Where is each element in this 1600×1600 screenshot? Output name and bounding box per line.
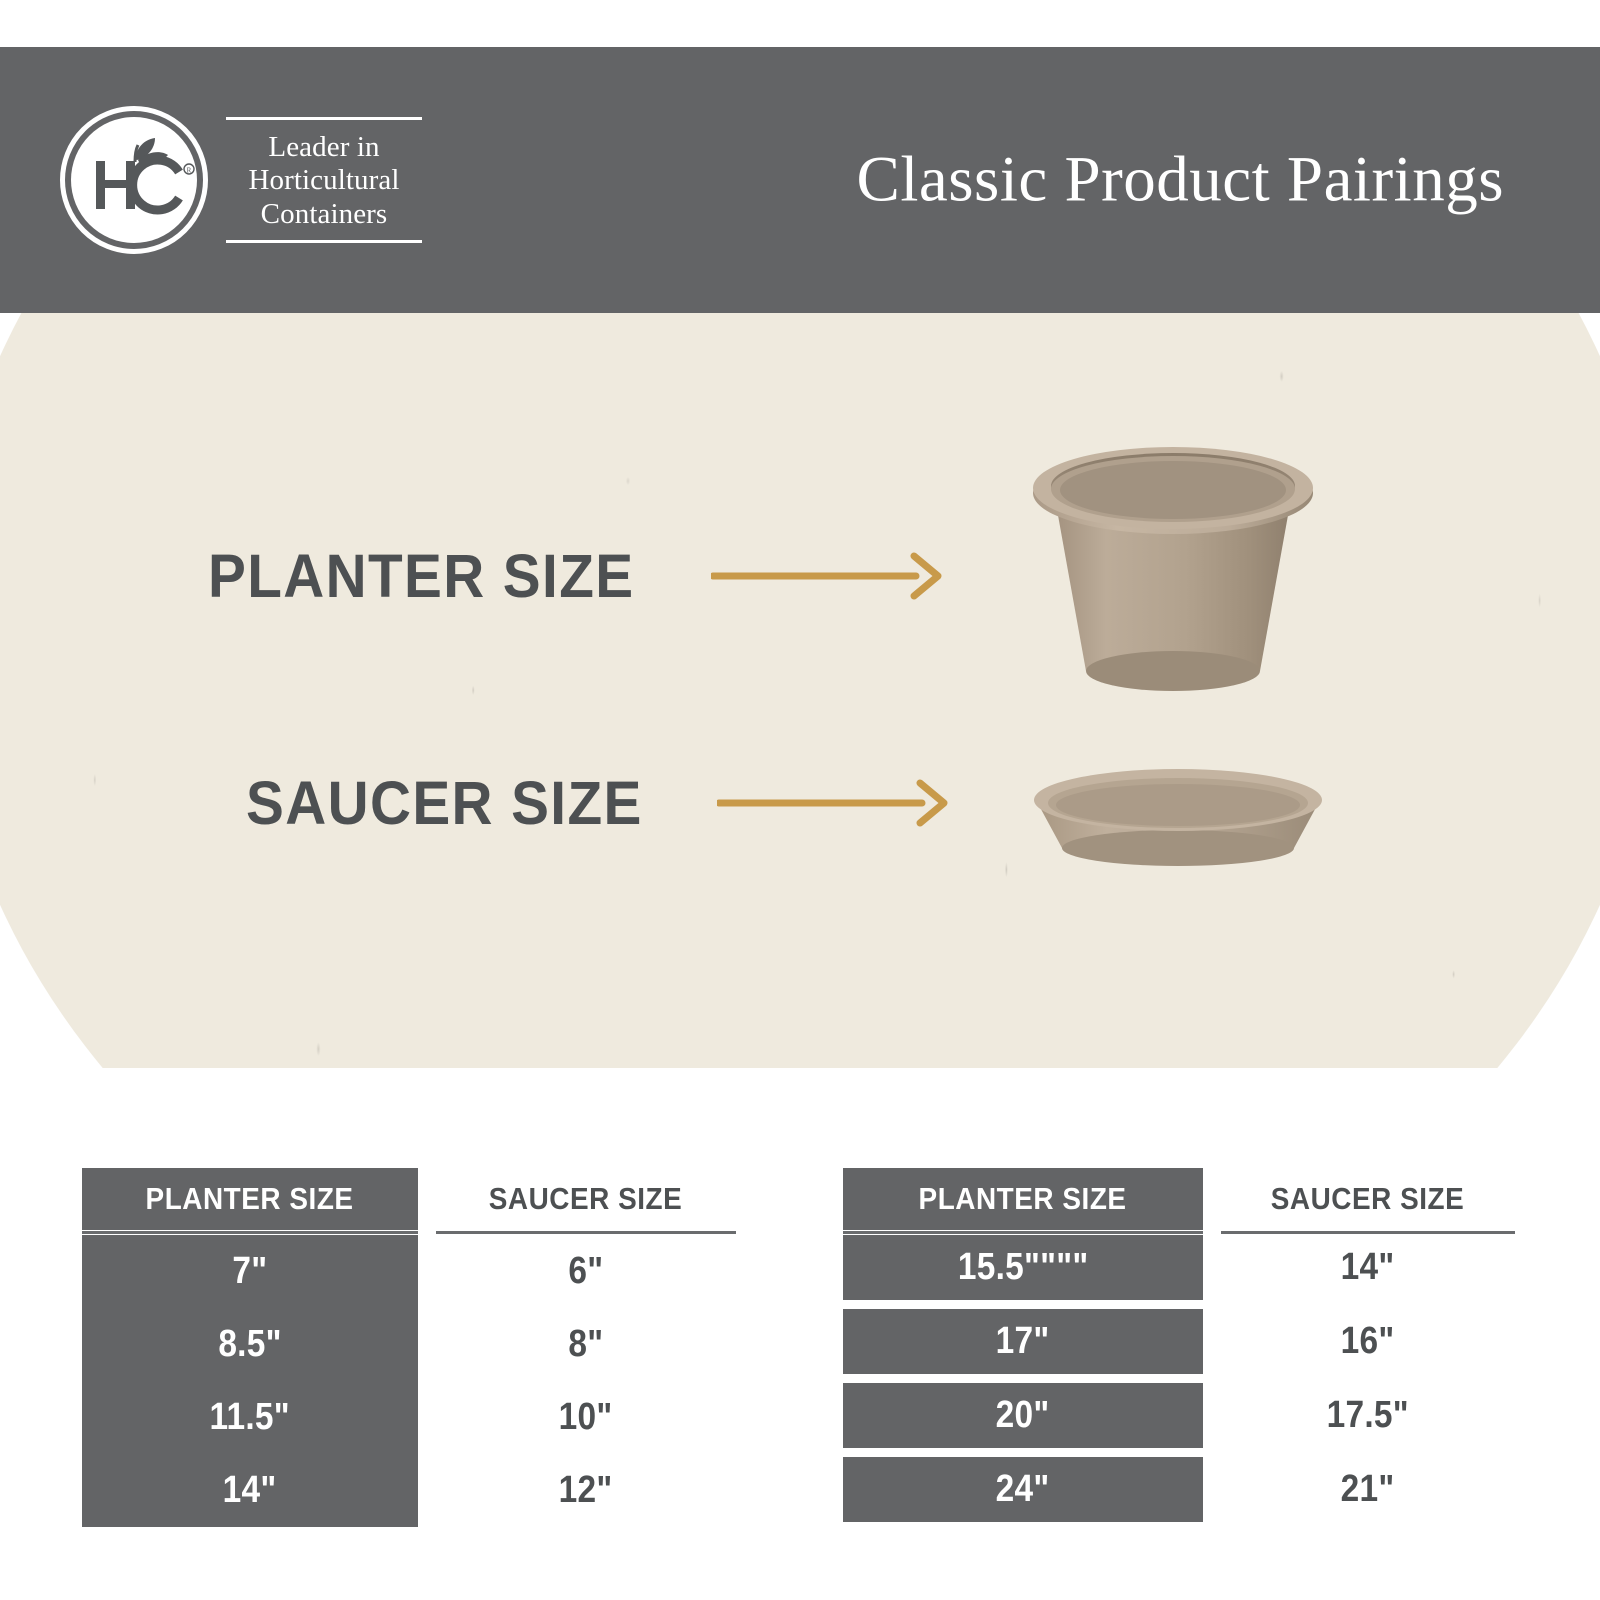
- header-gap: [1203, 1168, 1221, 1230]
- hc-monogram-icon: R: [71, 117, 197, 243]
- table-body: 15.5"""" 14" 17" 16" 20" 17.5" 24" 21": [843, 1235, 1515, 1522]
- table-row: 20" 17.5": [843, 1383, 1515, 1448]
- header-label-saucer: SAUCER SIZE: [489, 1181, 683, 1217]
- cell-planter-size: 11.5": [82, 1381, 418, 1454]
- cell-planter-size: 7": [82, 1235, 418, 1308]
- brand-logo-lockup: R Leader in Horticultural Containers: [60, 106, 422, 254]
- size-table-left: PLANTER SIZE SAUCER SIZE 7" 6" 8.5" 8": [82, 1168, 736, 1548]
- cell-saucer-size: 10": [436, 1381, 736, 1454]
- hero-label-planter: PLANTER SIZE: [208, 541, 634, 611]
- header-bar: R Leader in Horticultural Containers Cla…: [0, 47, 1600, 313]
- cell-planter-size: 17": [843, 1309, 1203, 1374]
- underline-planter: [843, 1231, 1203, 1234]
- header-label-planter: PLANTER SIZE: [919, 1181, 1127, 1217]
- header-cell-saucer: SAUCER SIZE: [436, 1168, 736, 1230]
- tagline-line-3: Containers: [226, 198, 422, 232]
- table-body: 7" 6" 8.5" 8" 11.5" 10" 14" 12": [82, 1235, 736, 1527]
- table-row: 14" 12": [82, 1454, 736, 1527]
- cell-planter-size: 14": [82, 1454, 418, 1527]
- cell-planter-size: 20": [843, 1383, 1203, 1448]
- cell-planter-size: 15.5"""": [843, 1235, 1203, 1300]
- table-row: 7" 6": [82, 1235, 736, 1308]
- underline-planter: [82, 1231, 418, 1234]
- cell-saucer-size: 6": [436, 1235, 736, 1308]
- header-cell-saucer: SAUCER SIZE: [1221, 1168, 1515, 1230]
- cell-planter-size: 24": [843, 1457, 1203, 1522]
- size-table-right: PLANTER SIZE SAUCER SIZE 15.5"""" 14": [843, 1168, 1515, 1548]
- cell-saucer-size: 21": [1221, 1457, 1515, 1522]
- brand-tagline: Leader in Horticultural Containers: [226, 108, 422, 253]
- table-row: 17" 16": [843, 1309, 1515, 1374]
- right-arrow-icon: [711, 552, 943, 600]
- cell-saucer-size: 17.5": [1221, 1383, 1515, 1448]
- hc-logo-mark: R: [60, 106, 208, 254]
- underline-saucer: [1221, 1231, 1515, 1234]
- header-label-saucer: SAUCER SIZE: [1271, 1181, 1465, 1217]
- cell-planter-size: 8.5": [82, 1308, 418, 1381]
- tagline-text: Leader in Horticultural Containers: [226, 120, 422, 241]
- underline-saucer: [436, 1231, 736, 1234]
- table-row: 15.5"""" 14": [843, 1235, 1515, 1300]
- table-header-row: PLANTER SIZE SAUCER SIZE: [843, 1168, 1515, 1230]
- planter-pot-image: [1008, 445, 1338, 720]
- cell-saucer-size: 16": [1221, 1309, 1515, 1374]
- cell-saucer-size: 8": [436, 1308, 736, 1381]
- right-arrow-icon: [717, 779, 949, 827]
- header-label-planter: PLANTER SIZE: [146, 1181, 354, 1217]
- size-tables: PLANTER SIZE SAUCER SIZE 7" 6" 8.5" 8": [0, 1168, 1600, 1548]
- saucer-dish-image: [1022, 762, 1334, 872]
- cell-saucer-size: 14": [1221, 1235, 1515, 1300]
- table-header-row: PLANTER SIZE SAUCER SIZE: [82, 1168, 736, 1230]
- tagline-line-2: Horticultural: [226, 164, 422, 198]
- page-title: Classic Product Pairings: [856, 143, 1504, 218]
- hero-panel: PLANTER SIZE SAUCER SIZE: [0, 313, 1600, 1068]
- hero-background-texture: [0, 313, 1600, 1068]
- tagline-line-1: Leader in: [226, 131, 422, 165]
- table-row: 24" 21": [843, 1457, 1515, 1522]
- header-gap: [418, 1168, 436, 1230]
- header-cell-planter: PLANTER SIZE: [843, 1168, 1203, 1230]
- hero-label-saucer: SAUCER SIZE: [246, 768, 643, 838]
- table-row: 11.5" 10": [82, 1381, 736, 1454]
- hero-row-saucer: SAUCER SIZE: [246, 768, 949, 838]
- cell-saucer-size: 12": [436, 1454, 736, 1527]
- svg-text:R: R: [187, 167, 192, 175]
- table-row: 8.5" 8": [82, 1308, 736, 1381]
- tagline-rule-bottom: [226, 240, 422, 243]
- hero-row-planter: PLANTER SIZE: [208, 541, 943, 611]
- header-cell-planter: PLANTER SIZE: [82, 1168, 418, 1230]
